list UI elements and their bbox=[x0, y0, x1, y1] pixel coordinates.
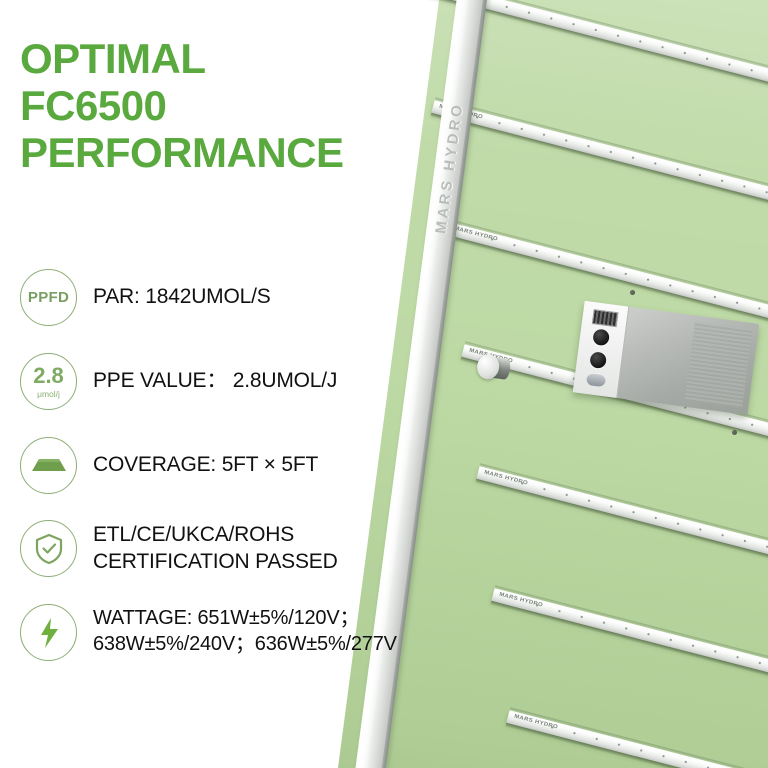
spec-row-ppe: 2.8 μmol/j PPE VALUE： 2.8UMOL/J bbox=[0, 352, 470, 410]
ppe-badge-value: 2.8 bbox=[33, 365, 64, 387]
spec-text-ppe: PPE VALUE： 2.8UMOL/J bbox=[93, 368, 337, 395]
driver-heatsink bbox=[685, 321, 753, 408]
mounting-screw bbox=[630, 290, 635, 295]
cable-connector bbox=[475, 353, 512, 384]
spec-row-certification: ETL/CE/UKCA/ROHS CERTIFICATION PASSED bbox=[0, 520, 470, 578]
ppfd-badge-label: PPFD bbox=[28, 289, 69, 306]
driver-display bbox=[592, 309, 619, 327]
headline-line-1: OPTIMAL bbox=[20, 35, 380, 82]
mounting-screw bbox=[732, 430, 737, 435]
page-title: OPTIMAL FC6500 PERFORMANCE bbox=[20, 35, 380, 176]
coverage-beam-icon bbox=[20, 437, 77, 494]
spec-list: PPFD PAR: 1842UMOL/S 2.8 μmol/j PPE VALU… bbox=[0, 268, 470, 688]
spec-text-coverage: COVERAGE: 5FT × 5FT bbox=[93, 452, 318, 479]
spec-row-coverage: COVERAGE: 5FT × 5FT bbox=[0, 436, 470, 494]
product-marketing-poster: MARS HYDRO MARS HYDRO MARS HYDRO MARS HY… bbox=[0, 0, 768, 768]
spec-row-par: PPFD PAR: 1842UMOL/S bbox=[0, 268, 470, 326]
spec-row-wattage: WATTAGE: 651W±5%/120V； 638W±5%/240V；636W… bbox=[0, 604, 470, 662]
spec-text-wattage: WATTAGE: 651W±5%/120V； 638W±5%/240V；636W… bbox=[93, 604, 397, 657]
ppe-badge-unit: μmol/j bbox=[37, 390, 60, 399]
headline-line-2: FC6500 bbox=[20, 82, 380, 129]
spec-text-certification: ETL/CE/UKCA/ROHS CERTIFICATION PASSED bbox=[93, 520, 338, 576]
headline-line-3: PERFORMANCE bbox=[20, 129, 380, 176]
ppe-value-badge-icon: 2.8 μmol/j bbox=[20, 353, 77, 410]
dimmer-knob bbox=[592, 328, 610, 346]
spec-text-par: PAR: 1842UMOL/S bbox=[93, 284, 271, 311]
shield-check-icon bbox=[20, 520, 77, 577]
power-switch bbox=[586, 372, 607, 387]
ppfd-badge-icon: PPFD bbox=[20, 269, 77, 326]
dimmer-knob bbox=[589, 351, 607, 369]
lightning-bolt-icon bbox=[20, 604, 77, 661]
